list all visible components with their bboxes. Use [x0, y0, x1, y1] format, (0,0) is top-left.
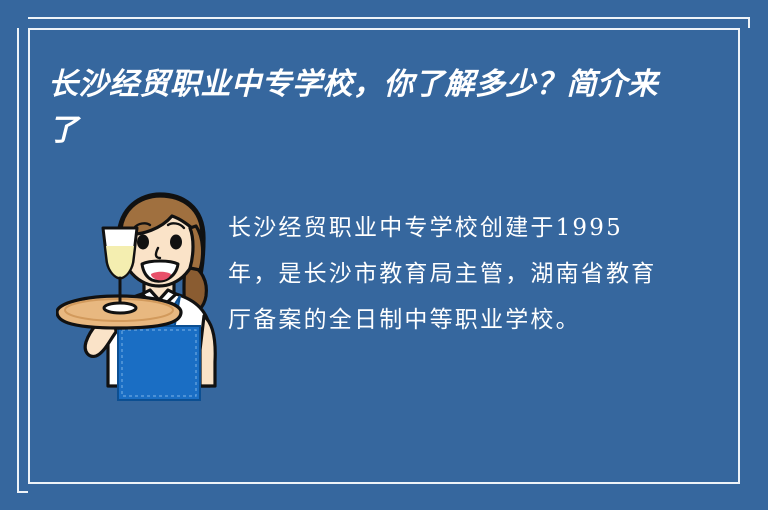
- right-arm-icon: [200, 316, 215, 386]
- frame-inner-mask: [0, 0, 28, 28]
- glass-base-icon: [104, 303, 136, 313]
- right-eye-icon: [170, 235, 182, 250]
- waitress-illustration: [56, 190, 246, 405]
- apron-body-icon: [118, 326, 200, 400]
- page-title: 长沙经贸职业中专学校，你了解多少？简介来了: [48, 62, 668, 154]
- poster-canvas: 长沙经贸职业中专学校，你了解多少？简介来了: [0, 0, 768, 510]
- left-eye-icon: [137, 235, 149, 250]
- hair-side-lock-icon: [190, 226, 203, 270]
- body-paragraph: 长沙经贸职业中专学校创建于1995年，是长沙市教育局主管，湖南省教育厅备案的全日…: [228, 205, 658, 343]
